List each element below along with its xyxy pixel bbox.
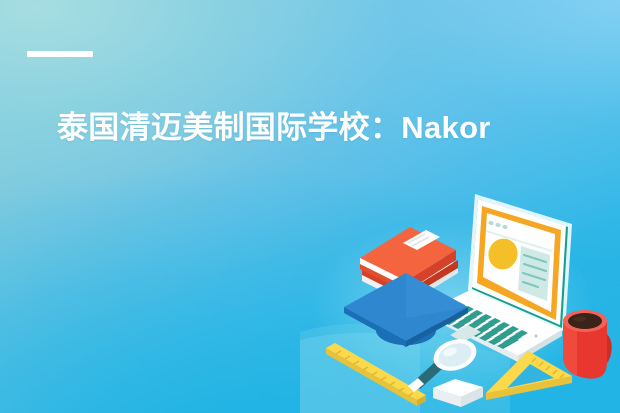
mug-body-highlight [563,323,577,376]
page-title: 泰国清迈美制国际学校：Nakor [57,107,620,149]
promo-banner: 泰国清迈美制国际学校：Nakor [0,0,620,413]
laptop-indicator-dot [535,335,538,338]
coffee-mug [563,310,612,379]
mug-coffee-highlight [574,316,586,321]
accent-rule [27,51,93,57]
education-illustration [300,180,620,413]
mug-coffee [568,313,602,329]
